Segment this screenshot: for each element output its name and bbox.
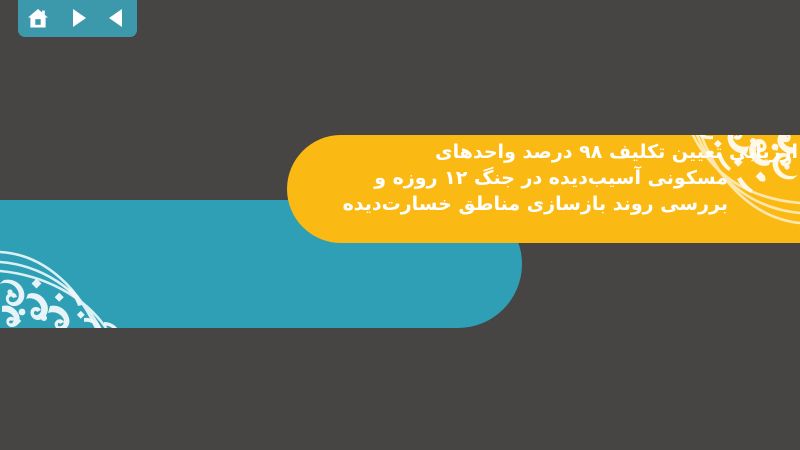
headline-line-1: ارزیابی تعیین تکلیف ۹۸ درصد واحدهای	[317, 139, 798, 165]
arabesque-corner-ornament	[0, 218, 150, 328]
headline-line-3: بررسی روند بازسازی مناطق خسارت‌دیده	[317, 191, 728, 217]
home-icon	[27, 8, 49, 29]
navigation-bar	[18, 0, 137, 37]
home-button[interactable]	[23, 5, 53, 31]
forward-button[interactable]	[63, 5, 93, 31]
headline-line-2: مسکونی آسیب‌دیده در جنگ ۱۲ روزه و	[317, 165, 728, 191]
triangle-left-icon	[108, 8, 126, 28]
triangle-right-icon	[69, 8, 87, 28]
back-button[interactable]	[102, 5, 132, 31]
headline-banner: ارزیابی تعیین تکلیف ۹۸ درصد واحدهای مسکو…	[287, 135, 800, 243]
headline-text: ارزیابی تعیین تکلیف ۹۸ درصد واحدهای مسکو…	[317, 139, 780, 218]
slide-canvas: ارزیابی تعیین تکلیف ۹۸ درصد واحدهای مسکو…	[0, 0, 800, 450]
